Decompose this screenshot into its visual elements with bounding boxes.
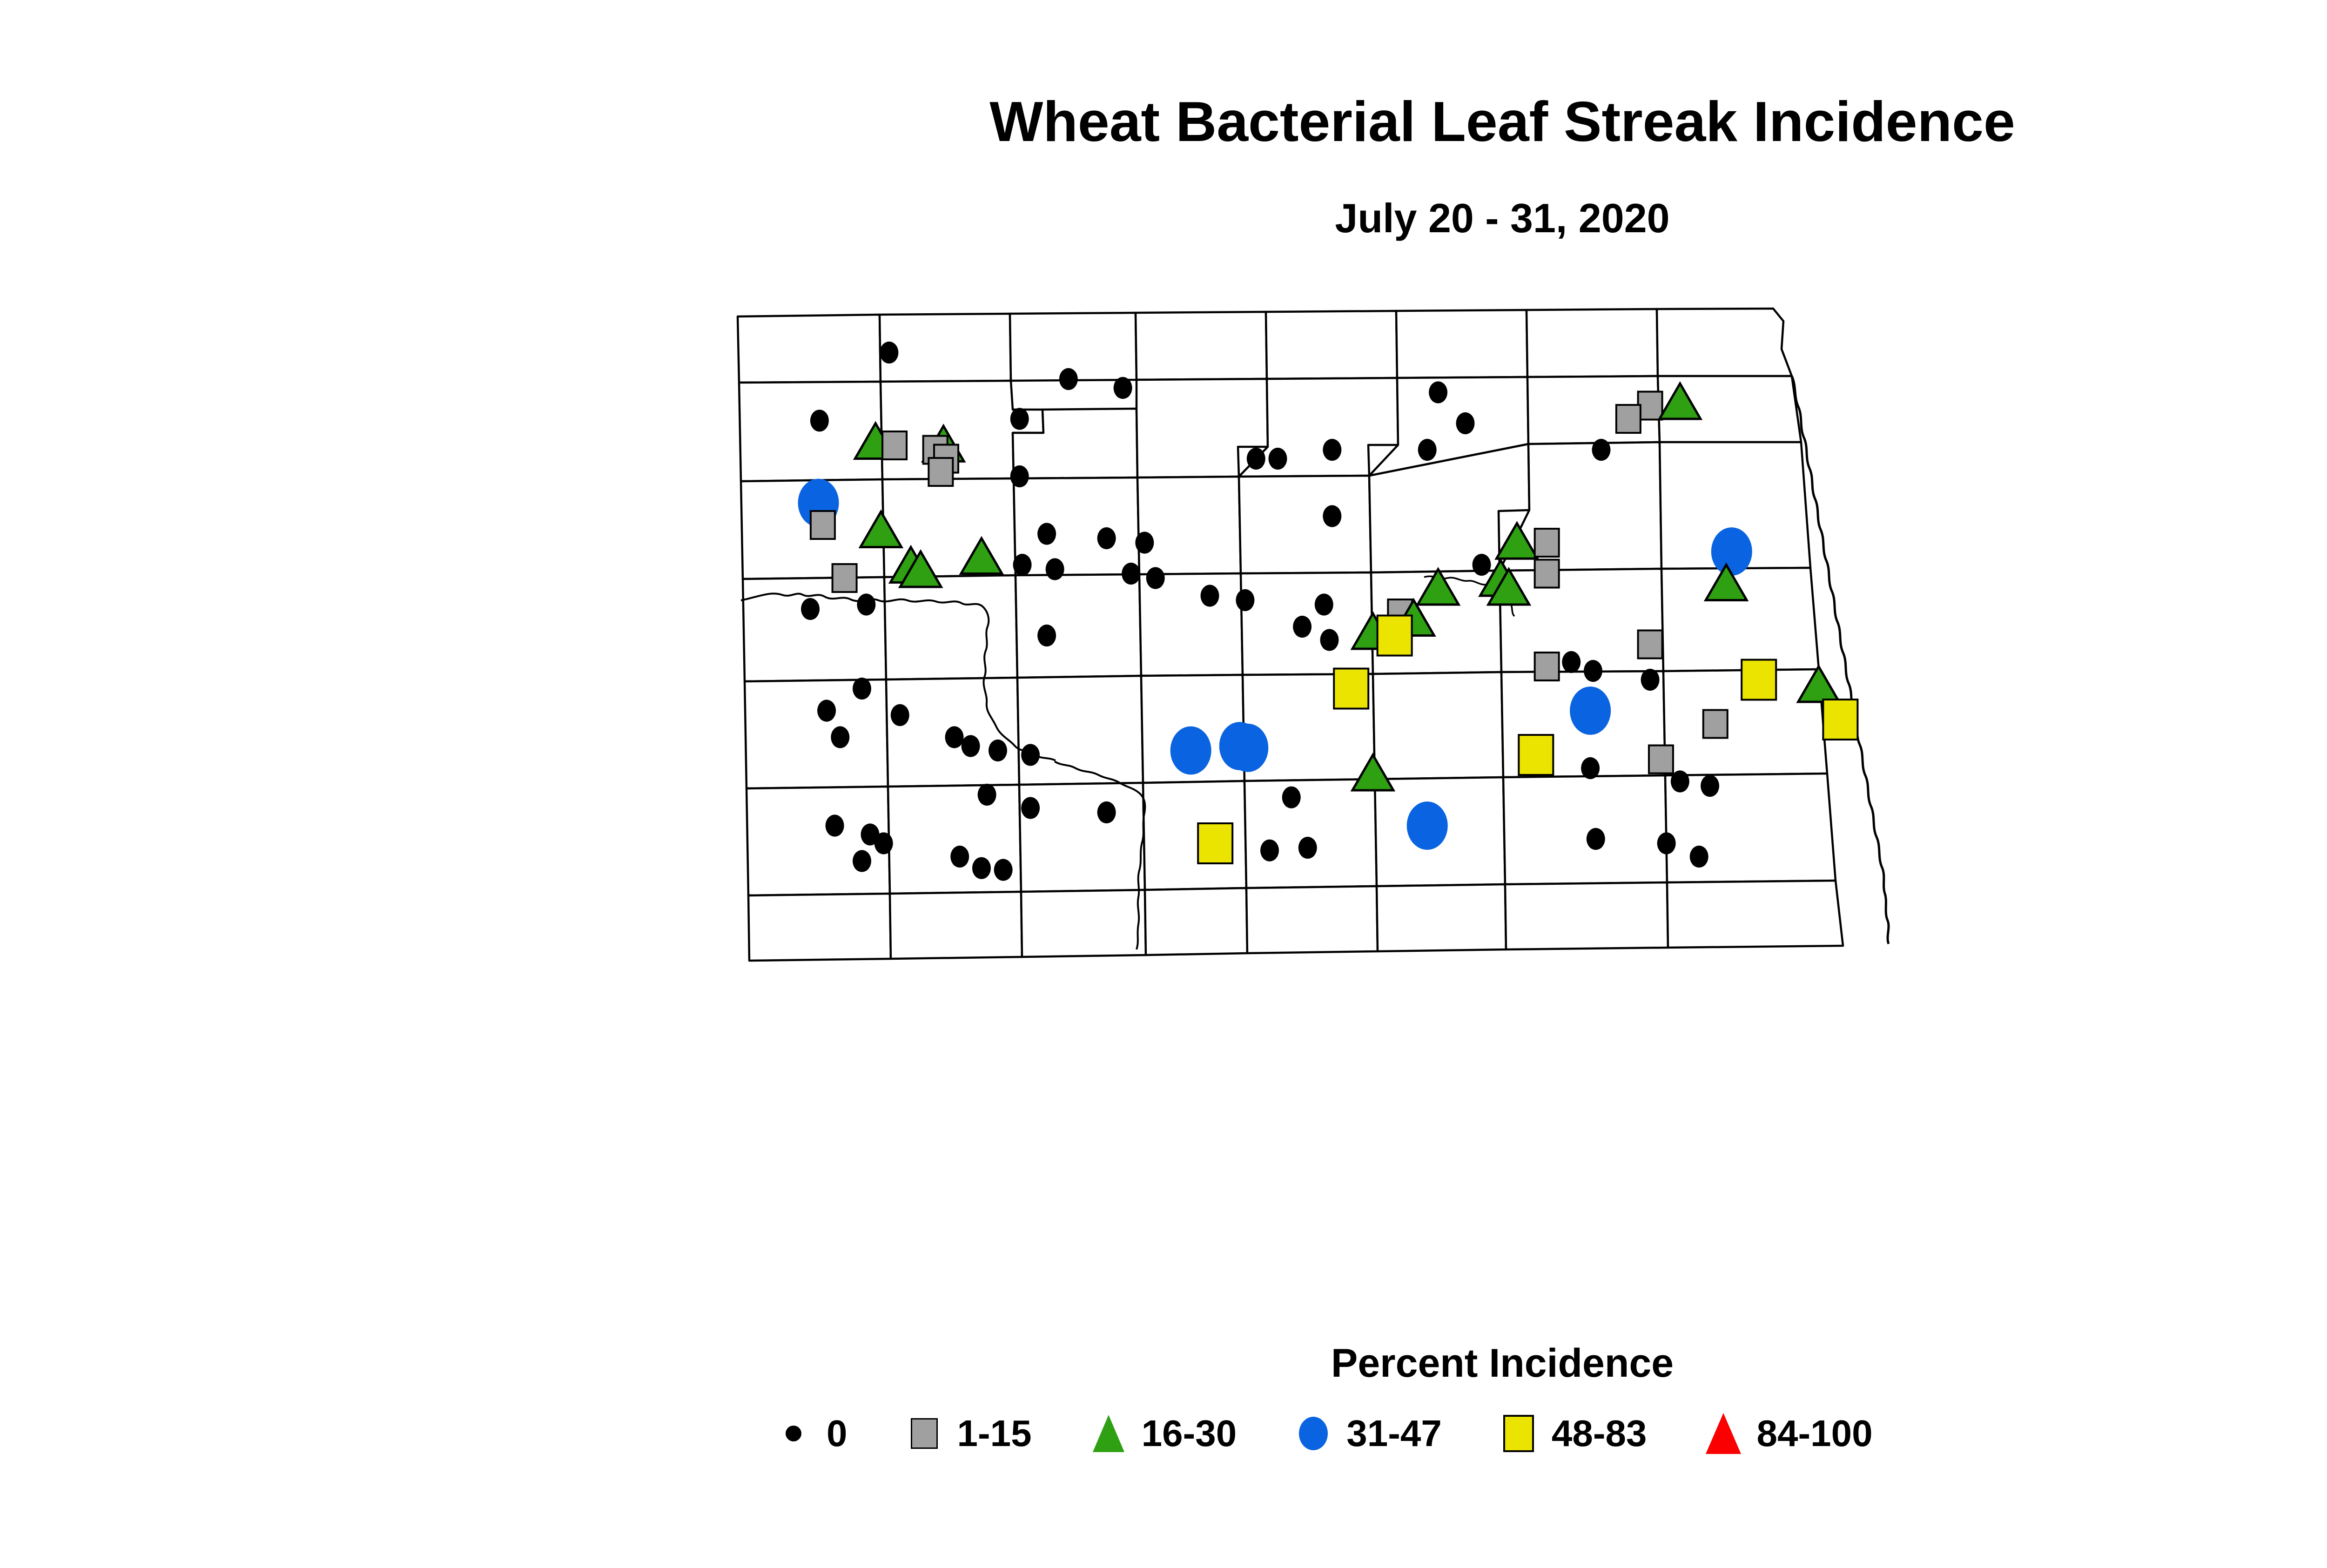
- map-symbol-1-15: [1703, 710, 1728, 738]
- map-symbol-0: [1315, 593, 1333, 615]
- map-symbol-1-15: [1535, 529, 1559, 557]
- red-triangle-icon: [1702, 1413, 1744, 1454]
- map-symbol-48-83: [1198, 823, 1232, 863]
- map-symbol-1-15: [811, 511, 835, 539]
- map-symbol-0: [1587, 828, 1605, 850]
- map-symbol-0: [1323, 505, 1341, 527]
- map-symbol-0: [1657, 832, 1676, 854]
- map-symbol-1-15: [1616, 405, 1641, 433]
- map-symbol-0: [972, 857, 991, 879]
- map-symbol-0: [1282, 787, 1301, 808]
- legend-label-48-83: 48-83: [1552, 1412, 1647, 1455]
- map-symbol-0: [1260, 840, 1279, 861]
- legend-title: Percent Incidence: [0, 1340, 2327, 1386]
- legend-item-84-100[interactable]: 84-100: [1702, 1406, 1872, 1461]
- map-symbol-0: [1473, 554, 1491, 576]
- map-symbol-48-83: [1742, 660, 1776, 700]
- legend-label-1-15: 1-15: [957, 1412, 1032, 1455]
- map-symbol-0: [1013, 554, 1032, 576]
- map-symbol-0: [1562, 651, 1580, 673]
- map-symbol-0: [994, 859, 1013, 881]
- map-symbol-0: [853, 678, 871, 700]
- map-symbol-0: [1320, 629, 1338, 651]
- map-symbol-0: [1701, 775, 1719, 797]
- map-symbol-48-83: [1519, 735, 1553, 775]
- map-symbol-0: [1010, 465, 1029, 487]
- map-symbol-0: [1293, 616, 1311, 638]
- map-symbol-0: [1323, 439, 1341, 461]
- legend-item-48-83[interactable]: 48-83: [1498, 1406, 1647, 1461]
- map-symbol-0: [1456, 412, 1474, 434]
- map-symbol-0: [810, 410, 829, 431]
- map-symbol-1-15: [1638, 392, 1662, 420]
- map-symbol-0: [817, 700, 836, 721]
- legend-label-31-47: 31-47: [1346, 1412, 1442, 1455]
- gray-square-icon: [903, 1413, 945, 1454]
- map-symbol-0: [880, 342, 898, 363]
- map-symbol-0: [1641, 669, 1660, 691]
- map-symbol-1-15: [882, 431, 907, 459]
- green-triangle-icon: [1088, 1413, 1130, 1454]
- map-symbol-0: [962, 735, 980, 757]
- map-symbol-0: [950, 846, 969, 868]
- map-symbol-0: [1429, 381, 1447, 403]
- map-symbol-1-15: [833, 564, 857, 592]
- map-symbol-0: [857, 593, 875, 615]
- map-symbol-0: [1122, 563, 1140, 585]
- legend-item-0[interactable]: 0: [773, 1406, 847, 1461]
- map-symbol-0: [1037, 625, 1056, 646]
- map-symbol-0: [978, 784, 996, 806]
- map-symbol-1-15: [1649, 746, 1673, 774]
- map-symbol-0: [1010, 408, 1029, 430]
- legend-item-1-15[interactable]: 1-15: [903, 1406, 1032, 1461]
- legend-item-16-30[interactable]: 16-30: [1088, 1406, 1237, 1461]
- legend-label-16-30: 16-30: [1142, 1412, 1237, 1455]
- map-symbol-0: [826, 814, 844, 836]
- map-symbol-0: [1097, 801, 1116, 823]
- map-symbol-0: [1201, 585, 1219, 606]
- map-symbol-0: [1584, 660, 1602, 682]
- map-symbol-0: [853, 850, 871, 872]
- map-symbol-1-15: [1535, 653, 1559, 680]
- map-symbol-48-83: [1823, 700, 1857, 740]
- legend-item-31-47[interactable]: 31-47: [1292, 1406, 1442, 1461]
- page-subtitle: July 20 - 31, 2020: [0, 198, 2327, 239]
- map-symbol-31-47: [1170, 727, 1211, 775]
- map-symbol-0: [831, 726, 849, 748]
- map-symbol-0: [1592, 439, 1610, 461]
- map-symbol-0: [1690, 846, 1708, 868]
- map-symbol-0: [874, 832, 893, 854]
- map-symbol-31-47: [1407, 801, 1448, 850]
- map-symbol-1-15: [1638, 631, 1662, 659]
- map-symbol-1-15: [928, 458, 953, 486]
- legend-label-84-100: 84-100: [1756, 1412, 1872, 1455]
- map-symbol-0: [1114, 377, 1132, 399]
- map-symbol-48-83: [1378, 616, 1412, 656]
- figure-canvas: Wheat Bacterial Leaf Streak Incidence Ju…: [0, 0, 2327, 1568]
- page-title: Wheat Bacterial Leaf Streak Incidence: [0, 93, 2327, 150]
- north-dakota-map[interactable]: [642, 293, 2318, 1308]
- blue-circle-icon: [1292, 1413, 1334, 1454]
- map-symbol-0: [1021, 797, 1040, 819]
- map-symbol-48-83: [1334, 669, 1368, 709]
- legend-label-0: 0: [827, 1412, 847, 1455]
- map-symbol-0: [1671, 770, 1689, 792]
- map-symbol-0: [1097, 527, 1116, 549]
- map-symbol-31-47: [1711, 527, 1752, 576]
- map-symbol-31-47: [1570, 686, 1611, 735]
- map-symbol-0: [1236, 589, 1254, 611]
- map-symbol-1-15: [1535, 560, 1559, 588]
- map-symbol-0: [1021, 744, 1040, 766]
- map-symbol-0: [1037, 523, 1056, 545]
- black-dot-icon: [773, 1413, 814, 1454]
- yellow-square-icon: [1498, 1413, 1540, 1454]
- map-symbol-0: [801, 598, 820, 620]
- map-symbol-0: [1269, 448, 1287, 470]
- map-symbol-0: [1046, 558, 1064, 580]
- map-symbol-0: [1581, 757, 1600, 779]
- map-symbol-0: [1418, 439, 1437, 461]
- map-symbol-0: [1135, 532, 1154, 553]
- map-symbol-0: [945, 726, 964, 748]
- legend: 0 1-15 16-30 31-47 48-83 84-100: [773, 1406, 2239, 1489]
- map-symbol-0: [891, 704, 909, 726]
- map-symbol-0: [1146, 567, 1165, 589]
- map-symbol-0: [989, 740, 1007, 761]
- map-symbol-0: [1247, 448, 1265, 470]
- map-symbol-31-47: [1227, 724, 1268, 772]
- map-symbol-0: [1059, 368, 1078, 390]
- map-symbol-0: [1298, 837, 1317, 859]
